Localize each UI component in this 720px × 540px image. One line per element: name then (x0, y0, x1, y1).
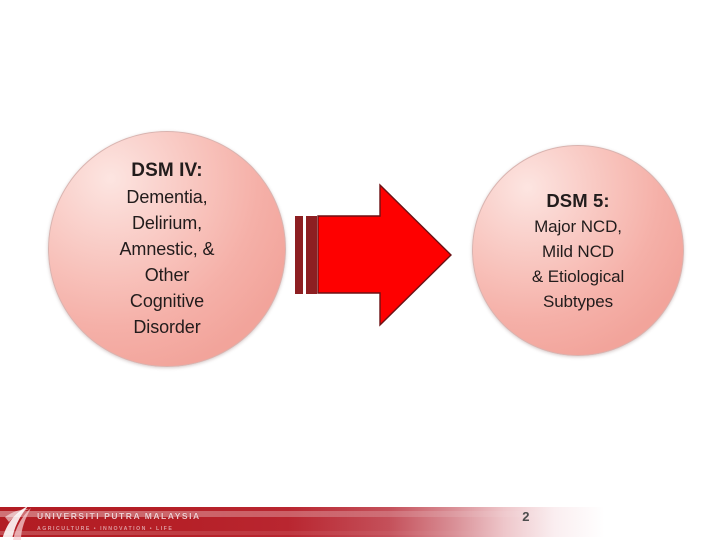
arrow-body (318, 185, 451, 325)
circle-line: Disorder (120, 314, 215, 340)
circle-line: Amnestic, & (120, 236, 215, 262)
circle-title-dsm4: DSM IV: (131, 158, 202, 184)
university-name: UNIVERSITI PUTRA MALAYSIA (37, 512, 367, 521)
circle-title-dsm5: DSM 5: (546, 188, 609, 214)
arrow-tail-stripe-2 (306, 216, 317, 294)
slide-number: 2 (512, 509, 540, 524)
circle-line: & Etiological (532, 264, 624, 289)
concept-circle-dsm5[interactable]: DSM 5: Major NCD, Mild NCD & Etiological… (472, 145, 684, 356)
circle-line: Cognitive (120, 288, 215, 314)
circle-line: Delirium, (120, 210, 215, 236)
circle-body-dsm5: Major NCD, Mild NCD & Etiological Subtyp… (532, 214, 624, 314)
circle-line: Major NCD, (532, 214, 624, 239)
circle-line: Mild NCD (532, 239, 624, 264)
arrow-tail-stripe-1 (295, 216, 303, 294)
circle-line: Subtypes (532, 289, 624, 314)
right-arrow-icon (292, 180, 454, 330)
footer-banner: UNIVERSITI PUTRA MALAYSIA AGRICULTURE • … (0, 503, 720, 540)
banner-text-block: UNIVERSITI PUTRA MALAYSIA AGRICULTURE • … (37, 512, 367, 532)
right-arrow-svg (292, 180, 454, 330)
concept-circle-dsm4[interactable]: DSM IV: Dementia, Delirium, Amnestic, & … (48, 131, 286, 367)
circle-line: Dementia, (120, 184, 215, 210)
slide-canvas: DSM IV: Dementia, Delirium, Amnestic, & … (0, 0, 720, 540)
circle-line: Other (120, 262, 215, 288)
university-tagline: AGRICULTURE • INNOVATION • LIFE (37, 527, 367, 532)
circle-body-dsm4: Dementia, Delirium, Amnestic, & Other Co… (120, 184, 215, 340)
